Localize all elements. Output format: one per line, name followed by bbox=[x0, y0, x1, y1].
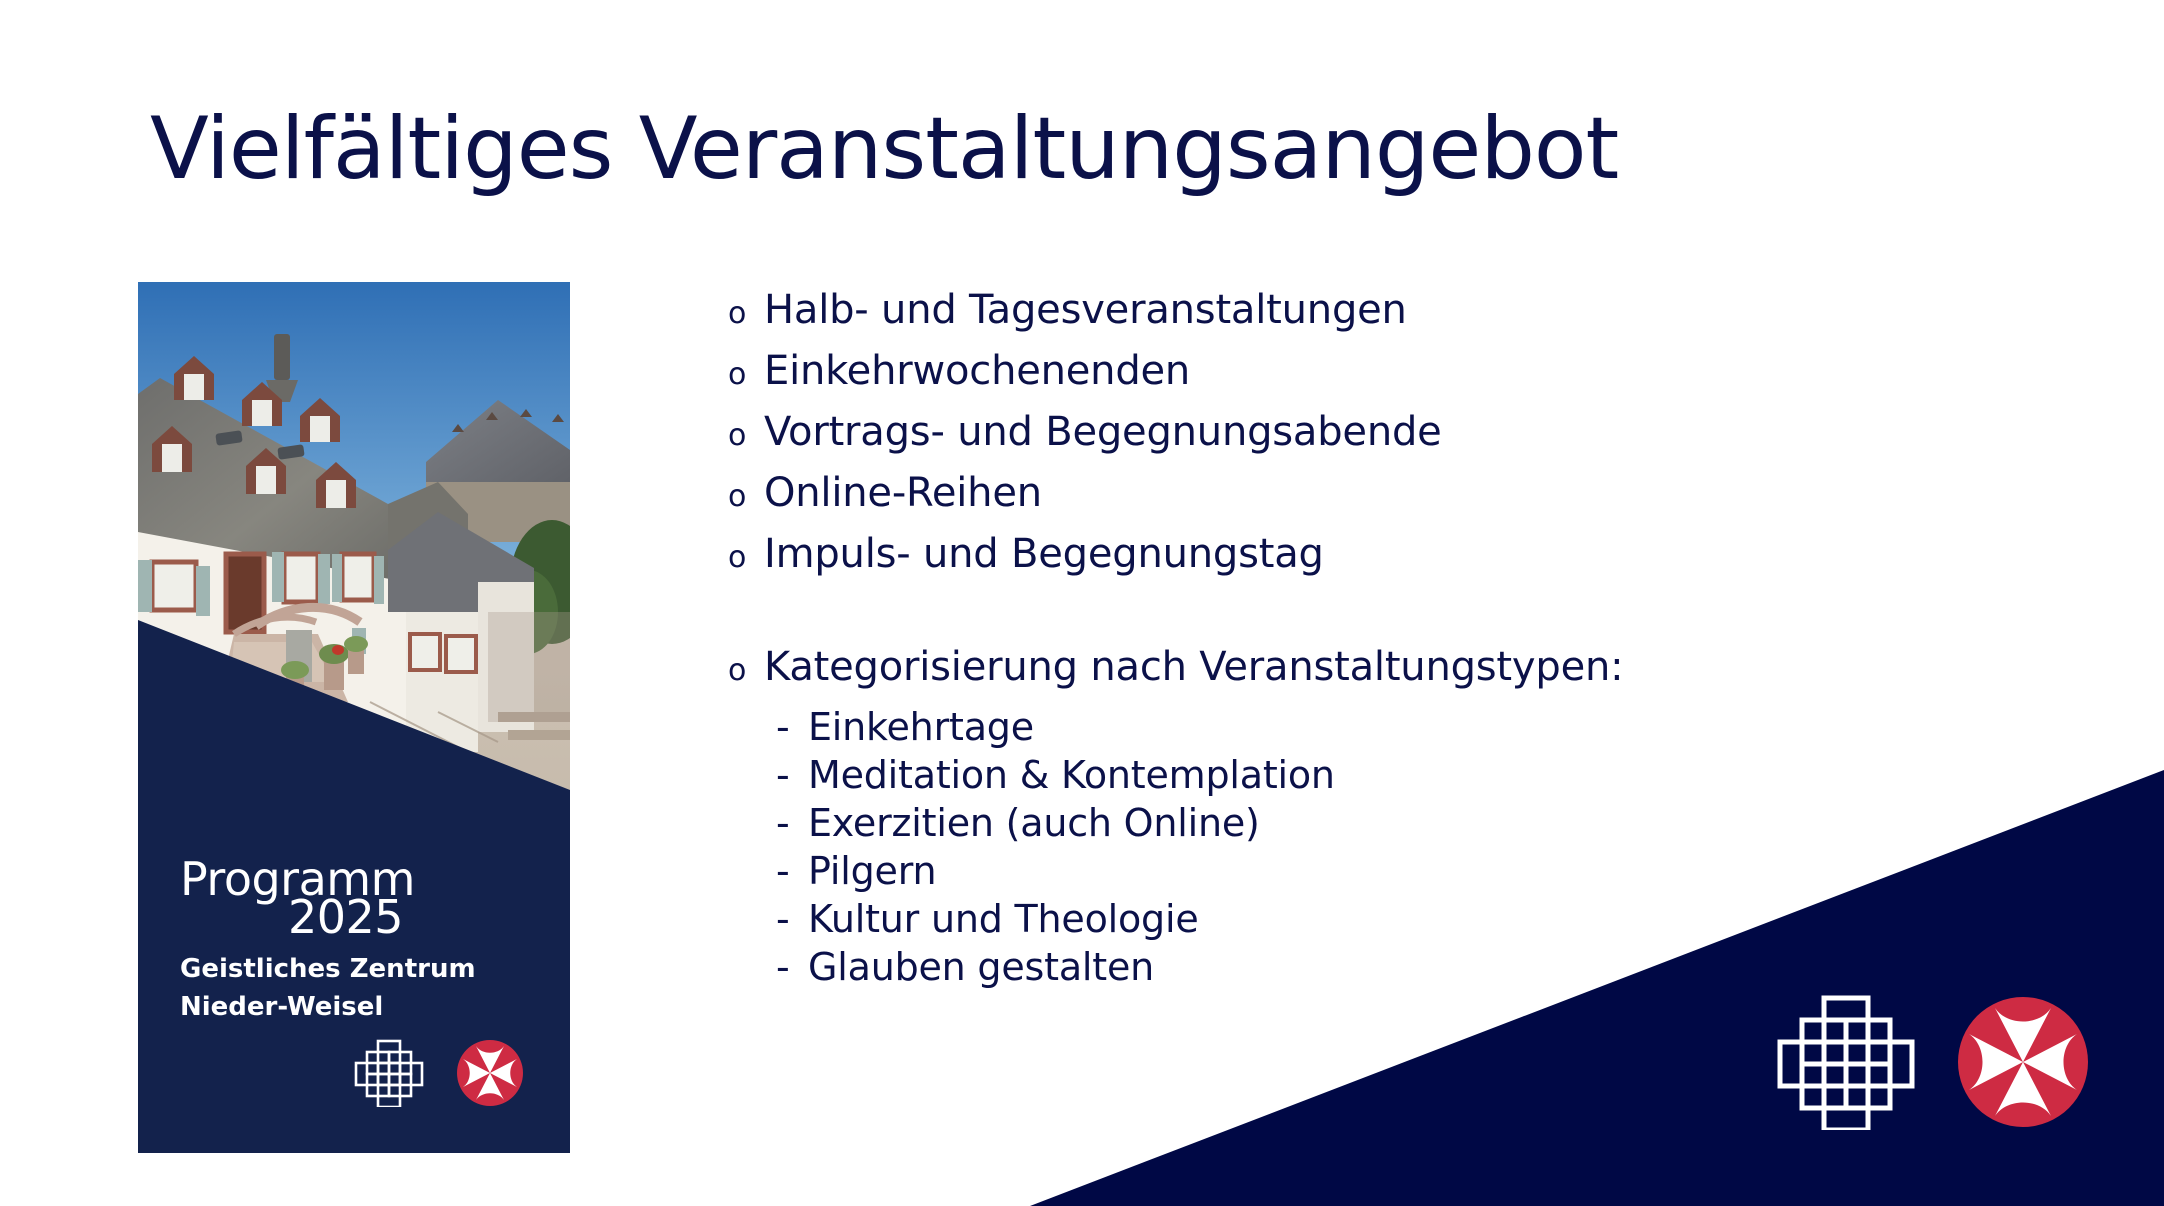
brochure-logo-group bbox=[350, 1037, 540, 1107]
bullet-circle-icon: o bbox=[728, 299, 764, 329]
list-item-label: Online-Reihen bbox=[764, 473, 1042, 513]
bullet-circle-icon: o bbox=[728, 421, 764, 451]
bullet-circle-icon: o bbox=[728, 482, 764, 512]
list-item: o Online-Reihen bbox=[728, 473, 1888, 534]
sub-list-item: - Exerzitien (auch Online) bbox=[728, 804, 1888, 852]
sub-list-item-label: Pilgern bbox=[808, 852, 936, 890]
list-item-label: Vortrags- und Begegnungsabende bbox=[764, 412, 1442, 452]
dash-icon: - bbox=[776, 756, 808, 794]
dash-icon: - bbox=[776, 900, 808, 938]
johanniter-square-cross-icon bbox=[1780, 998, 1912, 1130]
maltese-cross-icon bbox=[457, 1040, 523, 1106]
page-title: Vielfältiges Veranstaltungsangebot bbox=[150, 104, 1618, 194]
sub-list-item: - Glauben gestalten bbox=[728, 948, 1888, 996]
sub-list-item: - Einkehrtage bbox=[728, 708, 1888, 756]
brochure-org-line-1: Geistliches Zentrum bbox=[180, 956, 476, 982]
sub-list-item: - Pilgern bbox=[728, 852, 1888, 900]
list-group-spacer bbox=[728, 595, 1888, 647]
event-offer-list: o Halb- und Tagesveranstaltungen o Einke… bbox=[728, 290, 1888, 996]
brochure-org-line-2: Nieder-Weisel bbox=[180, 994, 383, 1020]
bullet-circle-icon: o bbox=[728, 360, 764, 390]
brochure-year-label: 2025 bbox=[288, 894, 403, 940]
dash-icon: - bbox=[776, 852, 808, 890]
list-item-label: Halb- und Tagesveranstaltungen bbox=[764, 290, 1407, 330]
sub-list-item-label: Exerzitien (auch Online) bbox=[808, 804, 1260, 842]
dash-icon: - bbox=[776, 948, 808, 986]
list-item-categorisation: o Kategorisierung nach Veranstaltungstyp… bbox=[728, 647, 1888, 708]
list-item-label: Einkehrwochenenden bbox=[764, 351, 1190, 391]
list-item: o Einkehrwochenenden bbox=[728, 351, 1888, 412]
presentation-slide: Vielfältiges Veranstaltungsangebot bbox=[0, 0, 2164, 1206]
sub-list-item-label: Einkehrtage bbox=[808, 708, 1034, 746]
list-item: o Halb- und Tagesveranstaltungen bbox=[728, 290, 1888, 351]
dash-icon: - bbox=[776, 804, 808, 842]
sub-list-item: - Kultur und Theologie bbox=[728, 900, 1888, 948]
dash-icon: - bbox=[776, 708, 808, 746]
bullet-circle-icon: o bbox=[728, 543, 764, 573]
list-item-label: Kategorisierung nach Veranstaltungstypen… bbox=[764, 647, 1623, 687]
list-item: o Impuls- und Begegnungstag bbox=[728, 534, 1888, 595]
list-item: o Vortrags- und Begegnungsabende bbox=[728, 412, 1888, 473]
brochure-caption: Programm 2025 Geistliches Zentrum Nieder… bbox=[138, 282, 570, 1153]
corner-logo-group bbox=[1768, 990, 2118, 1130]
sub-list-item-label: Meditation & Kontemplation bbox=[808, 756, 1335, 794]
sub-list-item-label: Kultur und Theologie bbox=[808, 900, 1199, 938]
sub-list-item-label: Glauben gestalten bbox=[808, 948, 1154, 986]
sub-list-item: - Meditation & Kontemplation bbox=[728, 756, 1888, 804]
programme-brochure-card: Programm 2025 Geistliches Zentrum Nieder… bbox=[138, 282, 570, 1153]
maltese-cross-icon bbox=[1958, 997, 2088, 1127]
list-item-label: Impuls- und Begegnungstag bbox=[764, 534, 1324, 574]
bullet-circle-icon: o bbox=[728, 656, 764, 686]
johanniter-square-cross-icon bbox=[356, 1041, 422, 1107]
